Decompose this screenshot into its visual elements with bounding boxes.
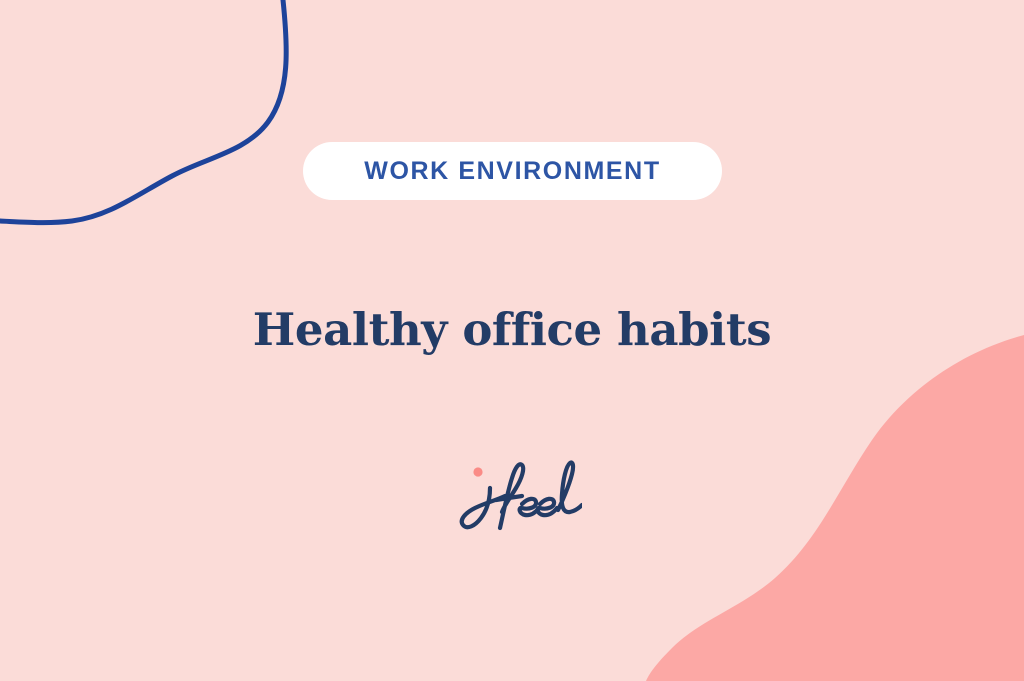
logo-letter-e-2 xyxy=(538,499,557,515)
logo-i-dot xyxy=(473,467,482,476)
logo-letter-e-1 xyxy=(520,499,539,515)
page-title: Healthy office habits xyxy=(0,305,1024,355)
logo-letter-i xyxy=(462,488,505,527)
logo-letter-l xyxy=(558,463,582,513)
ifeel-logo xyxy=(452,452,582,538)
coral-blob-shape xyxy=(646,335,1024,681)
category-badge-label: WORK ENVIRONMENT xyxy=(364,159,660,184)
slide-canvas: WORK ENVIRONMENT Healthy office habits xyxy=(0,0,1024,681)
ifeel-logo-mark xyxy=(452,452,582,538)
blue-wave-curve xyxy=(0,0,286,223)
category-badge: WORK ENVIRONMENT xyxy=(303,142,722,200)
